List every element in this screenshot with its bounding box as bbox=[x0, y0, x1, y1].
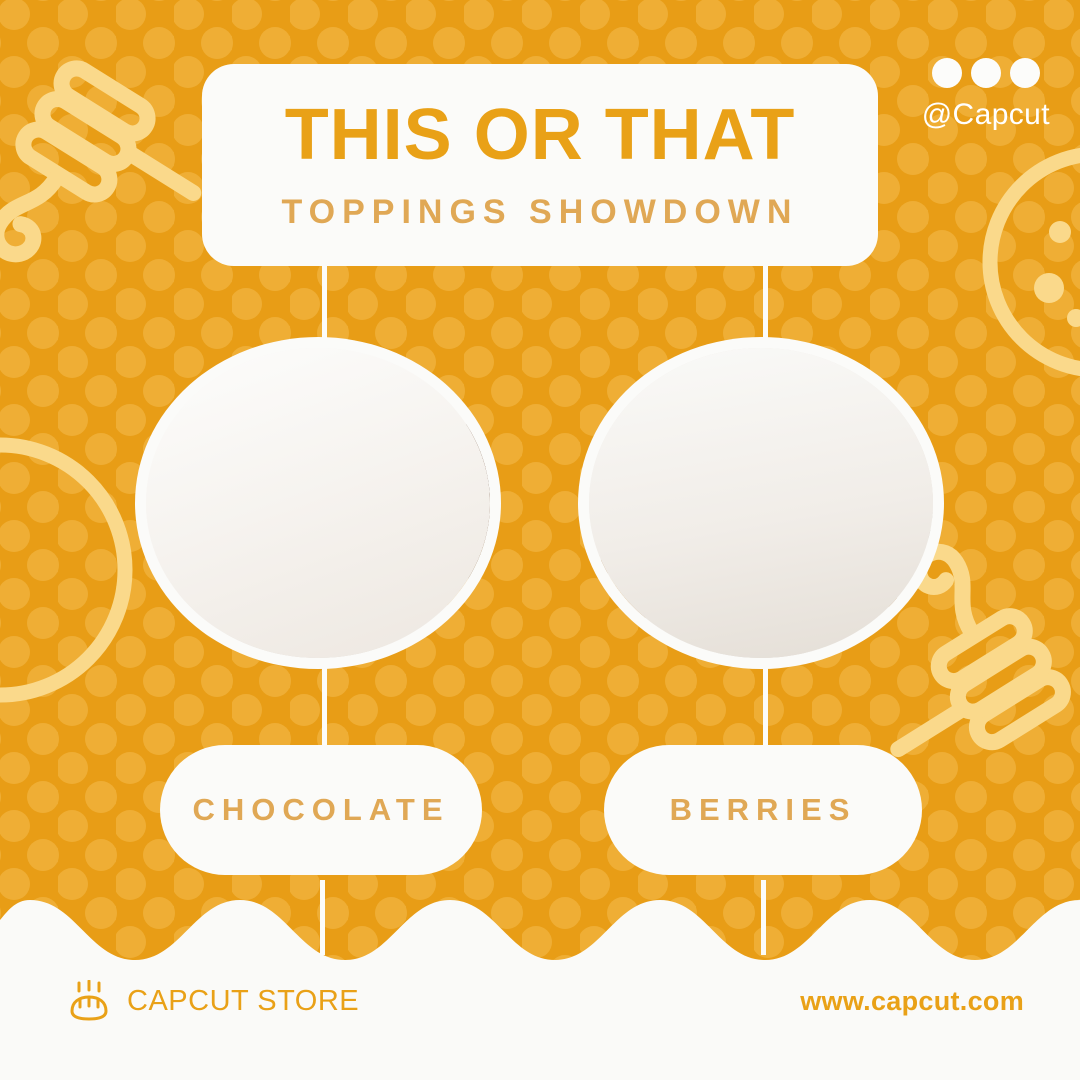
page-subtitle: TOPPINGS SHOWDOWN bbox=[282, 193, 799, 232]
store-brand: CAPCUT STORE bbox=[66, 980, 359, 1022]
footer-bar: CAPCUT STORE www.capcut.com bbox=[0, 960, 1080, 1080]
option-label-text: BERRIES bbox=[670, 792, 857, 828]
option-label-berries[interactable]: BERRIES bbox=[604, 745, 922, 875]
option-label-text: CHOCOLATE bbox=[192, 792, 449, 828]
brand-badge: @Capcut bbox=[922, 58, 1050, 132]
poster-canvas: @Capcut THIS OR THAT TOPPINGS SHOWDOWN bbox=[0, 0, 1080, 1080]
page-title: THIS OR THAT bbox=[285, 99, 796, 171]
header-card: THIS OR THAT TOPPINGS SHOWDOWN bbox=[202, 64, 878, 266]
bread-loaf-icon bbox=[66, 980, 112, 1022]
three-dots-icon bbox=[932, 58, 1040, 88]
brand-handle: @Capcut bbox=[922, 98, 1050, 132]
website-link[interactable]: www.capcut.com bbox=[800, 986, 1024, 1017]
option-label-chocolate[interactable]: CHOCOLATE bbox=[160, 745, 482, 875]
option-image-chocolate[interactable] bbox=[135, 337, 501, 669]
store-name: CAPCUT STORE bbox=[127, 985, 359, 1018]
option-image-berries[interactable] bbox=[578, 337, 944, 669]
